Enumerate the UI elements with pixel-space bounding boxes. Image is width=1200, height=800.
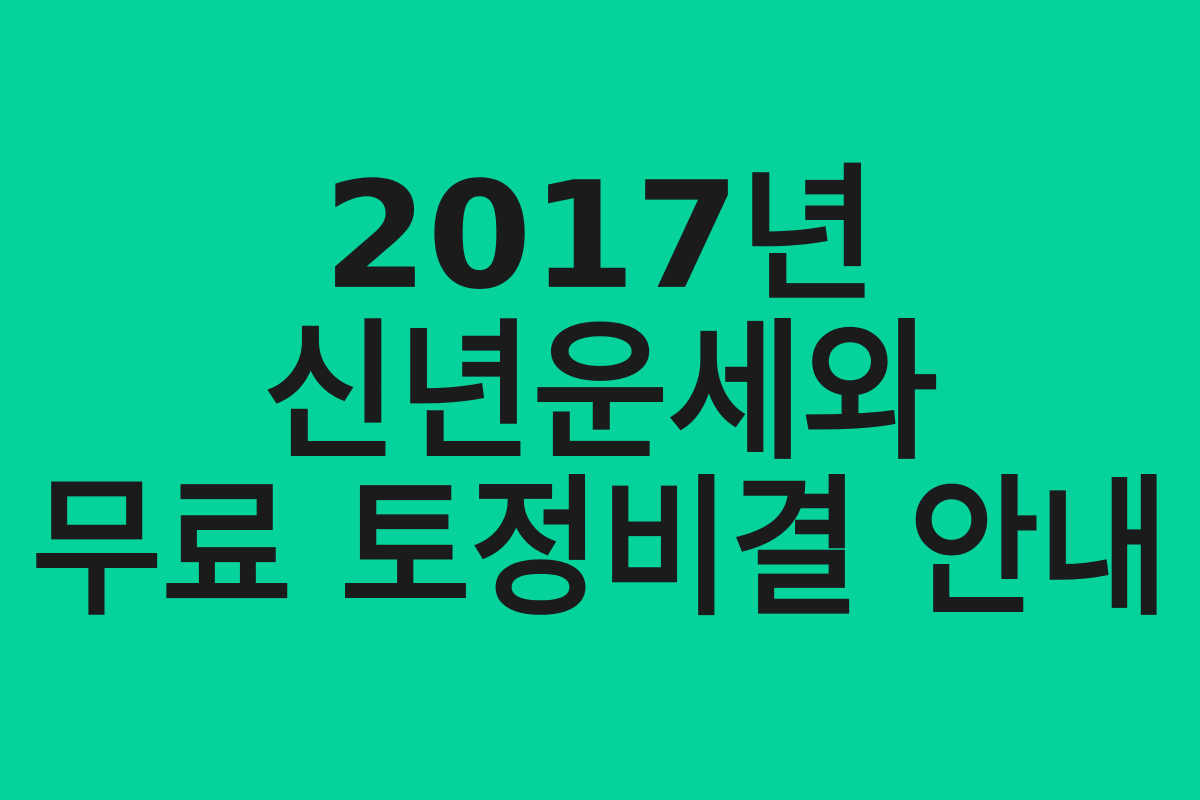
headline-block: 2017년 신년운세와 무료 토정비결 안내 xyxy=(0,172,1200,616)
headline-line-1: 2017년 xyxy=(0,169,1200,305)
headline-line-2: 신년운세와 xyxy=(0,325,1200,463)
promo-banner: 2017년 신년운세와 무료 토정비결 안내 xyxy=(0,0,1200,800)
headline-line-3: 무료 토정비결 안내 xyxy=(0,481,1200,619)
